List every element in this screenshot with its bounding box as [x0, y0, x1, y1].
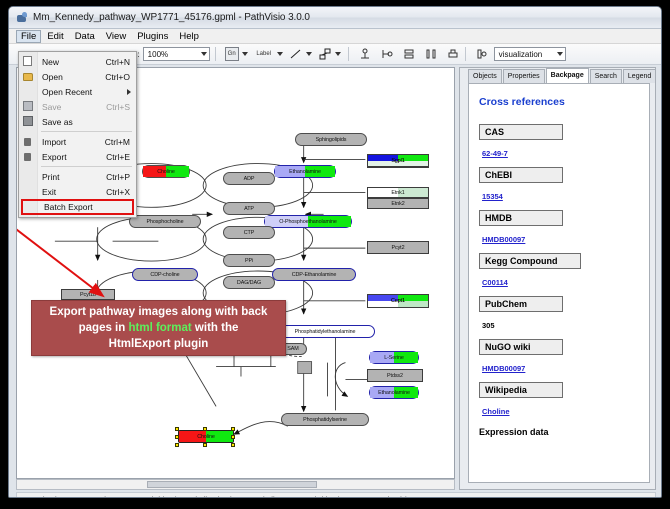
selection-handle[interactable] [231, 427, 235, 431]
annotation-callout: Export pathway images along with back pa… [31, 300, 286, 356]
node-l-serine[interactable]: L-Serine [369, 351, 419, 364]
shape-icon [319, 48, 331, 60]
menu-item-save: Save Ctrl+S [19, 99, 136, 114]
menu-item-accel: Ctrl+P [106, 172, 136, 182]
align-left-icon[interactable] [380, 47, 394, 61]
menu-view[interactable]: View [101, 30, 131, 43]
annotation-line-3: HtmlExport plugin [109, 336, 209, 352]
submenu-arrow-icon [127, 89, 131, 95]
zoom-value: 100% [148, 50, 168, 59]
menu-file[interactable]: File [16, 30, 41, 43]
line-icon [290, 48, 302, 60]
file-menu-dropdown: New Ctrl+N Open Ctrl+O Open Recent Save … [18, 51, 137, 218]
xref-value-cas[interactable]: 62-49-7 [479, 149, 508, 158]
node-label: Phosphatidylethanolamine [295, 329, 356, 335]
node-cdp-ethanolamine[interactable]: CDP-Ethanolamine [272, 268, 356, 281]
gene-label-2: Sgpl1 [391, 158, 404, 164]
status-text: Gene database: ...m_Derby_20120602.bridg… [20, 495, 462, 498]
gene-label: Ptdss2 [387, 373, 403, 379]
node-cdp-choline[interactable]: CDP-choline [132, 268, 198, 281]
datanode-tool-button[interactable]: Gn [225, 47, 239, 61]
toolbar-separator [215, 47, 216, 61]
gene-label-2: Cept1 [391, 298, 405, 304]
backpage-content: Cross references CAS 62-49-7 ChEBI 15354… [468, 83, 650, 483]
node-label: Phosphatidylserine [303, 417, 347, 423]
gene-label: Pcyt1b [80, 292, 96, 298]
node-ethanolamine-top[interactable]: Ethanolamine [274, 165, 336, 178]
node-label: DAG/DAG [237, 280, 261, 286]
selection-handle[interactable] [175, 443, 179, 447]
gene-ptdss2[interactable]: Ptdss2 [367, 369, 423, 382]
gene-pcyt2[interactable]: Pcyt2 [367, 241, 429, 254]
menu-item-accel: Ctrl+O [105, 72, 136, 82]
canvas-hscrollbar[interactable] [16, 479, 455, 490]
visualization-value: visualization [499, 50, 543, 59]
menu-item-batch-export[interactable]: Batch Export [21, 199, 134, 215]
label-tool-button[interactable]: Label [254, 47, 274, 61]
menu-item-label: Import [42, 137, 105, 147]
node-phosphatidylserine[interactable]: Phosphatidylserine [281, 413, 369, 426]
chevron-down-icon-2 [557, 52, 563, 56]
menu-item-open-recent[interactable]: Open Recent [19, 84, 136, 99]
side-panel: Objects Properties Backpage Search Legen… [459, 67, 656, 490]
menu-item-label: Save [42, 102, 106, 112]
node-label: CDP-choline [150, 272, 179, 278]
annotation-line-2-b: with the [192, 322, 239, 334]
node-phosphatidylethanolamine[interactable]: Phosphatidylethanolamine [275, 325, 375, 338]
xref-db-nugo: NuGO wiki [479, 339, 563, 355]
export-icon [23, 151, 34, 162]
node-adp[interactable]: ADP [223, 172, 275, 185]
scrollbar-thumb[interactable] [147, 481, 317, 488]
cross-references-heading: Cross references [479, 96, 639, 108]
xref-db-chebi: ChEBI [479, 167, 563, 183]
menu-data[interactable]: Data [70, 30, 100, 43]
datanode-dropdown-icon[interactable] [242, 52, 248, 56]
chevron-down-icon [201, 52, 207, 56]
menu-item-accel: Ctrl+N [106, 57, 136, 67]
tab-legend[interactable]: Legend [623, 69, 656, 83]
node-label: CTP [244, 230, 254, 236]
xref-db-kegg: Kegg Compound [479, 253, 581, 269]
node-label: L-Serine [384, 355, 404, 361]
menu-bar: File Edit Data View Plugins Help [9, 29, 661, 44]
line-tool-button[interactable] [289, 47, 303, 61]
menu-item-accel: Ctrl+X [106, 187, 136, 197]
distribute-icon[interactable] [424, 47, 438, 61]
xref-value-nugo[interactable]: HMDB00097 [479, 364, 525, 373]
node-ethanolamine-right[interactable]: Ethanolamine [369, 386, 419, 399]
selection-handle[interactable] [231, 443, 235, 447]
datanode-label: Gn [228, 51, 236, 57]
node-phosphocholine[interactable]: Phosphocholine [129, 215, 201, 228]
gene-etnk2[interactable]: Etnk2 [367, 198, 429, 209]
node-o-phosphoethanolamine[interactable]: O-Phosphoethanolamine [264, 215, 352, 228]
menu-item-label: New [42, 57, 106, 67]
selection-handle[interactable] [231, 435, 235, 439]
selection-handle[interactable] [175, 427, 179, 431]
menu-item-save-as[interactable]: Save as [19, 114, 136, 129]
label-dropdown-icon[interactable] [277, 52, 283, 56]
xref-db-hmdb: HMDB [479, 210, 563, 226]
title-bar: Mm_Kennedy_pathway_WP1771_45176.gpml - P… [9, 7, 661, 29]
new-file-icon [23, 56, 34, 67]
xref-value-kegg[interactable]: C00114 [479, 278, 508, 287]
node-label: PPi [245, 258, 253, 264]
node-label: SAM [287, 346, 298, 352]
menu-item-accel: Ctrl+S [106, 102, 136, 112]
status-bar: Gene database: ...m_Derby_20120602.bridg… [16, 492, 656, 498]
line-dropdown-icon[interactable] [306, 52, 312, 56]
selection-handle[interactable] [175, 435, 179, 439]
node-label: Choline [197, 434, 215, 440]
tab-objects[interactable]: Objects [468, 69, 502, 83]
save-as-icon [23, 116, 34, 127]
node-label: Sphingolipids [316, 137, 347, 143]
screenshot-root: Mm_Kennedy_pathway_WP1771_45176.gpml - P… [0, 0, 670, 509]
menu-item-import[interactable]: Import Ctrl+M [19, 134, 136, 149]
menu-item-new[interactable]: New Ctrl+N [19, 54, 136, 69]
gene-label: Pcyt2 [392, 245, 405, 251]
xref-db-cas: CAS [479, 124, 563, 140]
application-window: Mm_Kennedy_pathway_WP1771_45176.gpml - P… [8, 6, 662, 498]
menu-item-label: Print [42, 172, 106, 182]
pathvisio-icon [16, 12, 28, 24]
menu-separator [41, 131, 132, 132]
menu-item-accel: Ctrl+E [106, 152, 136, 162]
annotation-highlight: html format [128, 322, 191, 334]
import-icon [23, 136, 34, 147]
print-icon[interactable] [446, 47, 460, 61]
visualization-icon[interactable] [475, 47, 489, 61]
menu-plugins[interactable]: Plugins [132, 30, 173, 43]
menu-item-label: Export [42, 152, 106, 162]
visualization-combobox[interactable]: visualization [494, 47, 566, 61]
node-sphingolipids[interactable]: Sphingolipids [295, 133, 367, 146]
shape-tool-button[interactable] [318, 47, 332, 61]
node-label: Ethanolamine [289, 169, 321, 175]
node-label: Ethanolamine [378, 390, 410, 396]
toolbar-separator-2 [348, 47, 349, 61]
xref-value-hmdb[interactable]: HMDB00097 [479, 235, 525, 244]
node-ppi[interactable]: PPi [223, 254, 275, 267]
align-top-icon[interactable] [358, 47, 372, 61]
menu-item-label: Open Recent [42, 87, 136, 97]
gene-cept1-outline: Cept1 [367, 294, 429, 308]
selection-handle[interactable] [203, 427, 207, 431]
menu-item-label: Open [42, 72, 105, 82]
menu-item-print[interactable]: Print Ctrl+P [19, 169, 136, 184]
xref-value-pubchem: 305 [479, 321, 495, 330]
menu-separator-2 [41, 166, 132, 167]
node-ctp[interactable]: CTP [223, 226, 275, 239]
label-tool-label: Label [256, 51, 271, 57]
zoom-combobox[interactable]: 100% [143, 47, 210, 61]
xref-value-wikipedia[interactable]: Choline [479, 407, 510, 416]
panel-tabstrip: Objects Properties Backpage Search Legen… [460, 68, 655, 83]
xref-db-wikipedia: Wikipedia [479, 382, 563, 398]
menu-item-export[interactable]: Export Ctrl+E [19, 149, 136, 164]
open-folder-icon [23, 71, 34, 82]
expression-data-heading: Expression data [479, 427, 639, 437]
menu-item-label: Batch Export [44, 202, 132, 212]
gene-label: Etnk2 [391, 201, 404, 207]
node-label: ATP [244, 206, 254, 212]
menu-item-open[interactable]: Open Ctrl+O [19, 69, 136, 84]
menu-item-label: Exit [42, 187, 106, 197]
node-label: O-Phosphoethanolamine [279, 219, 337, 225]
node-dag[interactable]: DAG/DAG [223, 276, 275, 289]
gene-etnk1[interactable]: Etnk1 [367, 187, 429, 198]
node-label: CDP-Ethanolamine [292, 272, 337, 278]
node-label: ADP [244, 176, 255, 182]
annotation-line-2: pages in html format with the [79, 320, 239, 336]
gene-label: Etnk1 [391, 190, 404, 196]
node-label: Choline [157, 169, 175, 175]
menu-item-accel: Ctrl+M [105, 137, 136, 147]
save-icon [23, 101, 34, 112]
menu-item-label: Save as [42, 117, 130, 127]
tab-backpage[interactable]: Backpage [546, 68, 589, 83]
annotation-line-1: Export pathway images along with back [50, 304, 268, 320]
menu-edit[interactable]: Edit [42, 30, 68, 43]
xref-value-chebi[interactable]: 15354 [479, 192, 503, 201]
node-atp[interactable]: ATP [223, 202, 275, 215]
window-title: Mm_Kennedy_pathway_WP1771_45176.gpml - P… [33, 12, 310, 23]
tab-properties[interactable]: Properties [503, 69, 545, 83]
shape-dropdown-icon[interactable] [335, 52, 341, 56]
annotation-line-2-a: pages in [79, 322, 129, 334]
xref-db-pubchem: PubChem [479, 296, 563, 312]
gene-pcyt1b[interactable]: Pcyt1b [61, 289, 115, 300]
selection-handle[interactable] [203, 443, 207, 447]
menu-item-exit[interactable]: Exit Ctrl+X [19, 184, 136, 199]
node-label: Phosphocholine [147, 219, 184, 225]
gene-sgpl1-text: Sgpl1 [367, 154, 429, 167]
node-choline-bottom[interactable]: Choline [178, 430, 234, 443]
menu-help[interactable]: Help [174, 30, 204, 43]
node-choline-top[interactable]: Choline [142, 165, 190, 178]
align-stack-icon[interactable] [402, 47, 416, 61]
tab-search[interactable]: Search [590, 69, 622, 83]
toolbar-separator-3 [465, 47, 466, 61]
